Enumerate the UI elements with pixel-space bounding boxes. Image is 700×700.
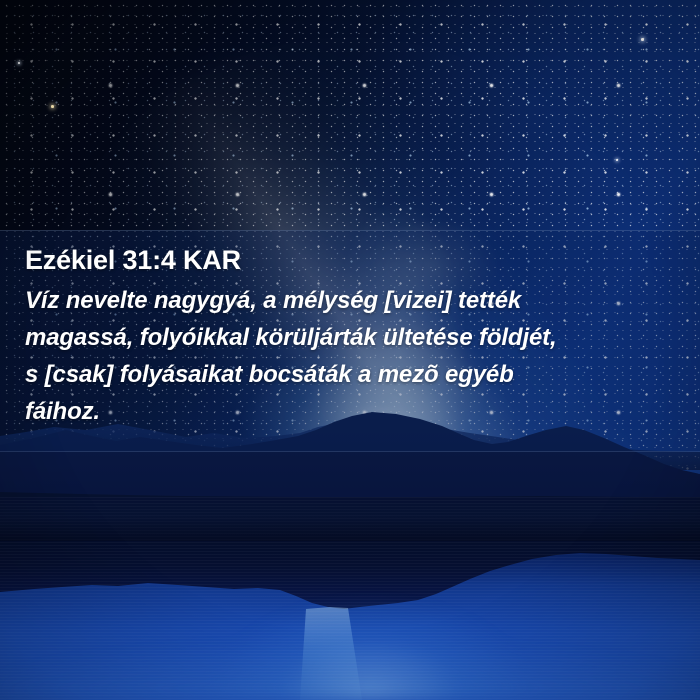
verse-line: s [csak] folyásaikat bocsáták a mezõ egy…	[25, 356, 676, 393]
water-shore-shadow	[0, 497, 700, 541]
verse-line: magassá, folyóikkal körüljárták ültetése…	[25, 319, 676, 356]
verse-line: fáihoz.	[25, 393, 676, 430]
verse-reference: Ezékiel 31:4 KAR	[25, 242, 676, 278]
verse-body: Víz nevelte nagygyá, a mélység [vizei] t…	[25, 282, 676, 430]
verse-text-content: Ezékiel 31:4 KAR Víz nevelte nagygyá, a …	[0, 230, 700, 452]
lake-water	[0, 497, 700, 700]
verse-line: Víz nevelte nagygyá, a mélység [vizei] t…	[25, 282, 676, 319]
verse-card: Ezékiel 31:4 KAR Víz nevelte nagygyá, a …	[0, 0, 700, 700]
